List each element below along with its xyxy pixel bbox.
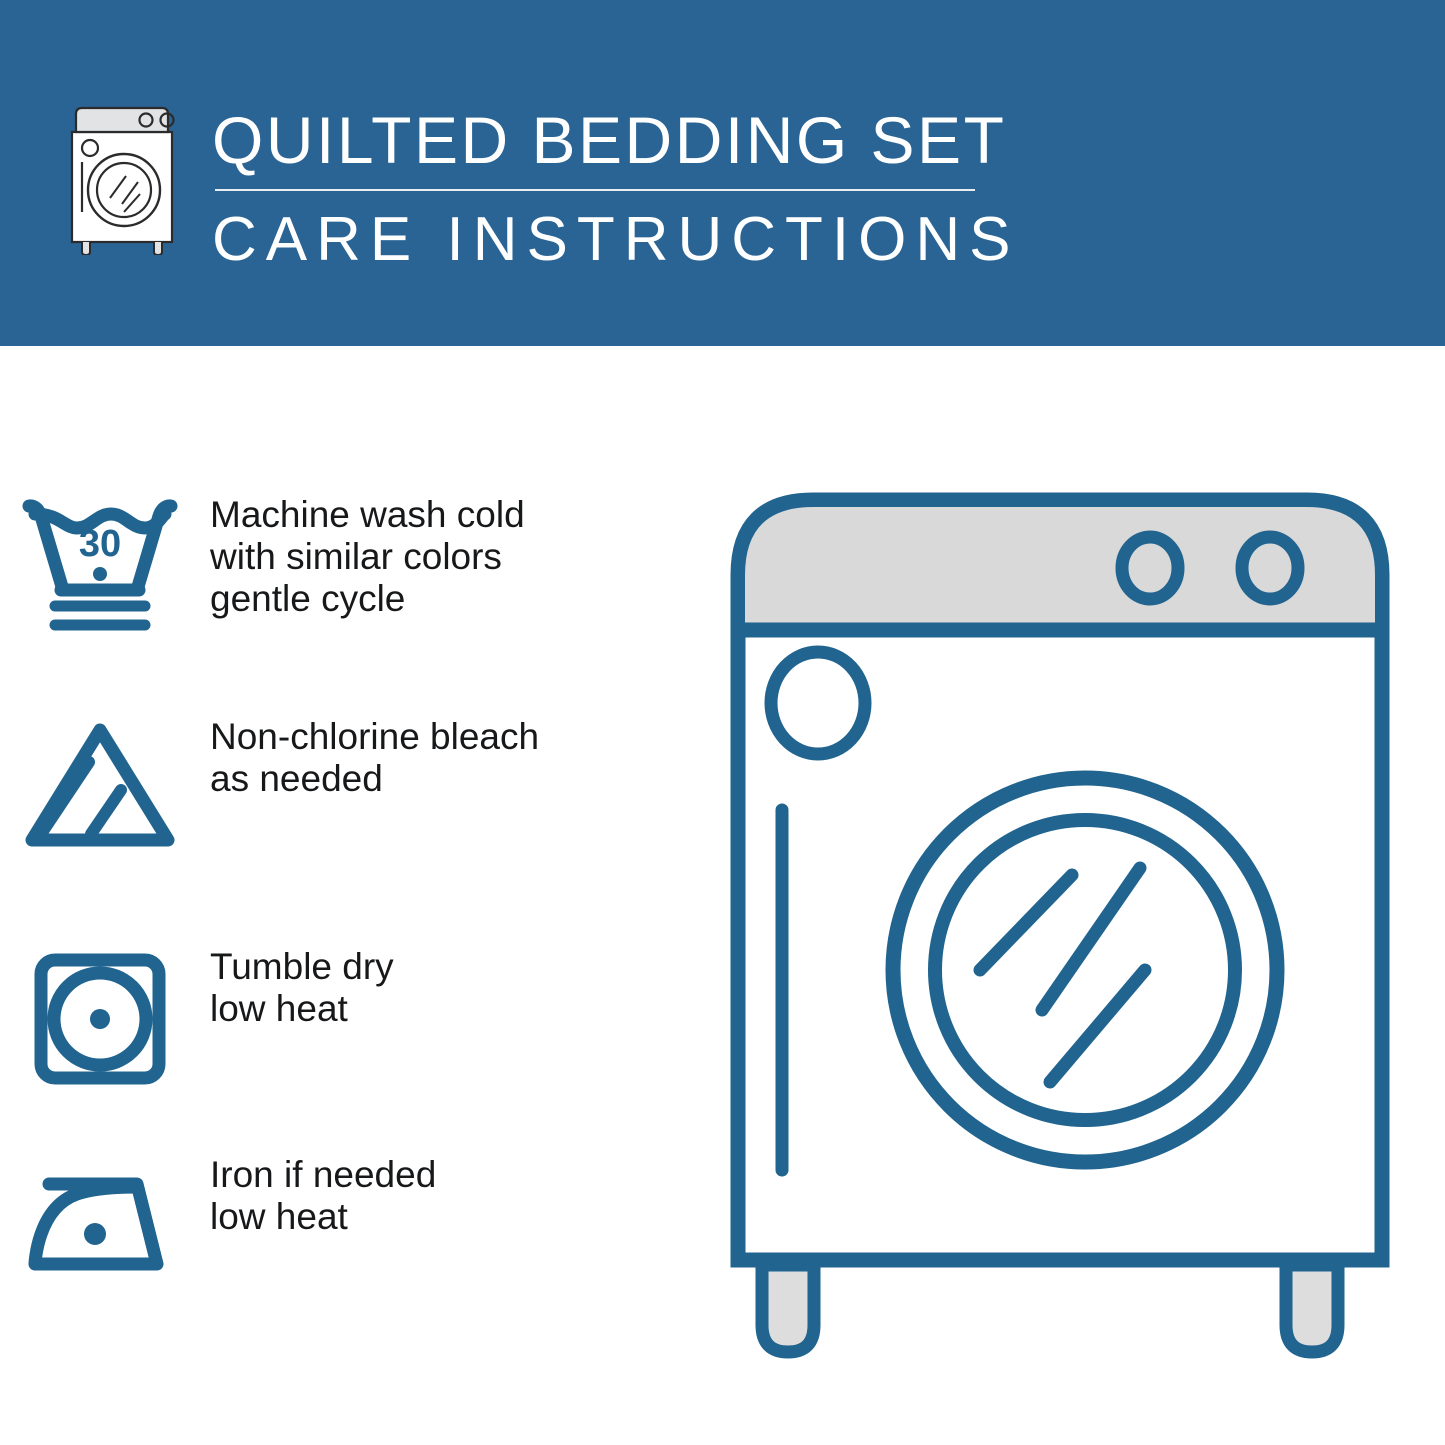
leg-left [762, 1265, 814, 1352]
knob-left [1122, 537, 1178, 599]
page-header: QUILTED BEDDING SET CARE INSTRUCTIONS [0, 0, 1445, 346]
care-instruction-list: 30 Machine wash cold with similar colors… [0, 346, 700, 1445]
instruction-line: Non-chlorine bleach [210, 716, 700, 758]
list-item: Non-chlorine bleach as needed [0, 716, 700, 856]
list-item: 30 Machine wash cold with similar colors… [0, 494, 700, 644]
list-item: Iron if needed low heat [0, 1154, 700, 1284]
instruction-text: Iron if needed low heat [200, 1154, 700, 1238]
header-title-group: QUILTED BEDDING SET [212, 98, 1012, 182]
instruction-line: gentle cycle [210, 578, 700, 620]
non-chlorine-bleach-triangle-icon [0, 716, 200, 856]
page-title: QUILTED BEDDING SET [212, 98, 1012, 182]
washing-machine-icon [62, 100, 182, 255]
tumble-dry-low-heat-icon [0, 946, 200, 1086]
instruction-line: Iron if needed [210, 1154, 700, 1196]
instruction-line: Tumble dry [210, 946, 700, 988]
iron-low-heat-icon [0, 1154, 200, 1284]
wash-dot-icon [93, 567, 107, 581]
instruction-line: with similar colors [210, 536, 700, 578]
instruction-line: as needed [210, 758, 700, 800]
page-subtitle: CARE INSTRUCTIONS [212, 192, 1019, 288]
knob-right [1242, 537, 1298, 599]
iron-heat-dot-icon [84, 1223, 106, 1245]
title-divider [215, 189, 975, 191]
machine-wash-30-gentle-icon: 30 [0, 494, 200, 644]
small-dial [771, 652, 865, 754]
leg-right [1286, 1265, 1338, 1352]
care-instructions-page: QUILTED BEDDING SET CARE INSTRUCTIONS 30 [0, 0, 1445, 1445]
front-load-washing-machine-illustration [720, 470, 1420, 1380]
list-item: Tumble dry low heat [0, 946, 700, 1086]
instruction-text: Non-chlorine bleach as needed [200, 716, 700, 800]
instruction-line: low heat [210, 1196, 700, 1238]
instruction-line: low heat [210, 988, 700, 1030]
instruction-text: Tumble dry low heat [200, 946, 700, 1030]
instruction-line: Machine wash cold [210, 494, 700, 536]
wash-temperature-label: 30 [79, 523, 121, 565]
instruction-text: Machine wash cold with similar colors ge… [200, 494, 700, 620]
dry-heat-dot-icon [90, 1009, 110, 1029]
